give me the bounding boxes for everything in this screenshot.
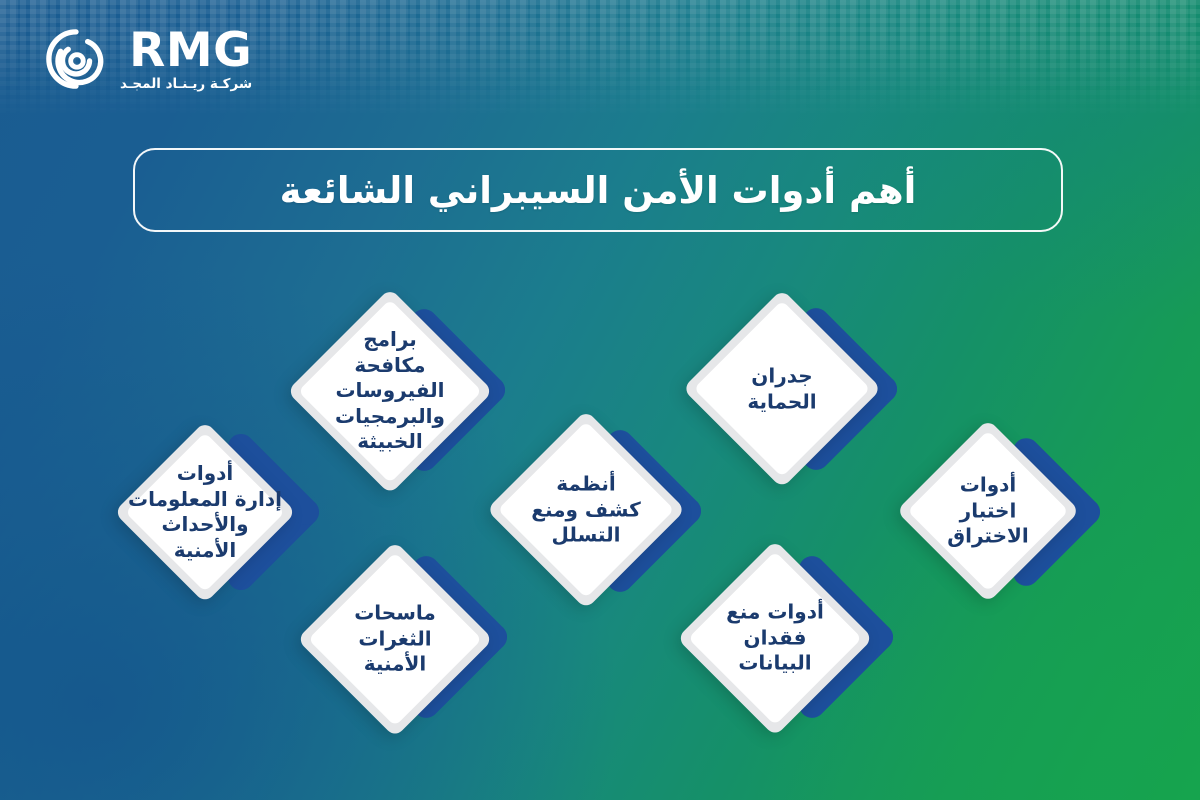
diamond-label: جدران الحماية	[696, 363, 868, 414]
diamond-node-firewalls[interactable]: جدران الحماية	[682, 289, 882, 489]
diamond-label: أنظمة كشف ومنع التسلل	[500, 472, 672, 549]
brand-logo[interactable]: RMG شركـة ريـنـاد المجـد	[45, 27, 252, 92]
brand-arabic-name: شركـة ريـنـاد المجـد	[120, 78, 252, 92]
page-title: أهم أدوات الأمن السيبراني الشائعة	[280, 169, 917, 212]
diamond-node-antivirus-antimalware[interactable]: برامج مكافحة الفيروسات والبرمجيات الخبيث…	[287, 288, 493, 494]
brand-name: RMG	[129, 27, 252, 74]
infographic-canvas: RMG شركـة ريـنـاد المجـد أهم أدوات الأمن…	[0, 0, 1200, 800]
diamond-node-intrusion-detection-prevention[interactable]: أنظمة كشف ومنع التسلل	[486, 410, 686, 610]
title-banner: أهم أدوات الأمن السيبراني الشائعة	[133, 148, 1063, 232]
diamond-label: برامج مكافحة الفيروسات والبرمجيات الخبيث…	[301, 327, 478, 455]
diamond-label: أدوات اختبار الاختراق	[909, 473, 1067, 550]
diamond-label: ماسحات الثغرات الأمنية	[311, 601, 480, 678]
diamond-node-vulnerability-scanners[interactable]: ماسحات الثغرات الأمنية	[297, 541, 493, 737]
diamond-node-data-loss-prevention[interactable]: أدوات منع فقدان البيانات	[677, 540, 873, 736]
background-gradient-overlay	[0, 0, 1200, 800]
diamond-node-penetration-testing-tools[interactable]: أدوات اختبار الاختراق	[896, 419, 1080, 603]
rmg-spiral-icon	[45, 28, 107, 90]
diamond-label: أدوات منع فقدان البيانات	[691, 600, 860, 677]
diamond-node-siem-tools[interactable]: أدوات إدارة المعلومات والأحداث الأمنية	[114, 421, 296, 603]
diamond-label: أدوات إدارة المعلومات والأحداث الأمنية	[127, 461, 284, 563]
